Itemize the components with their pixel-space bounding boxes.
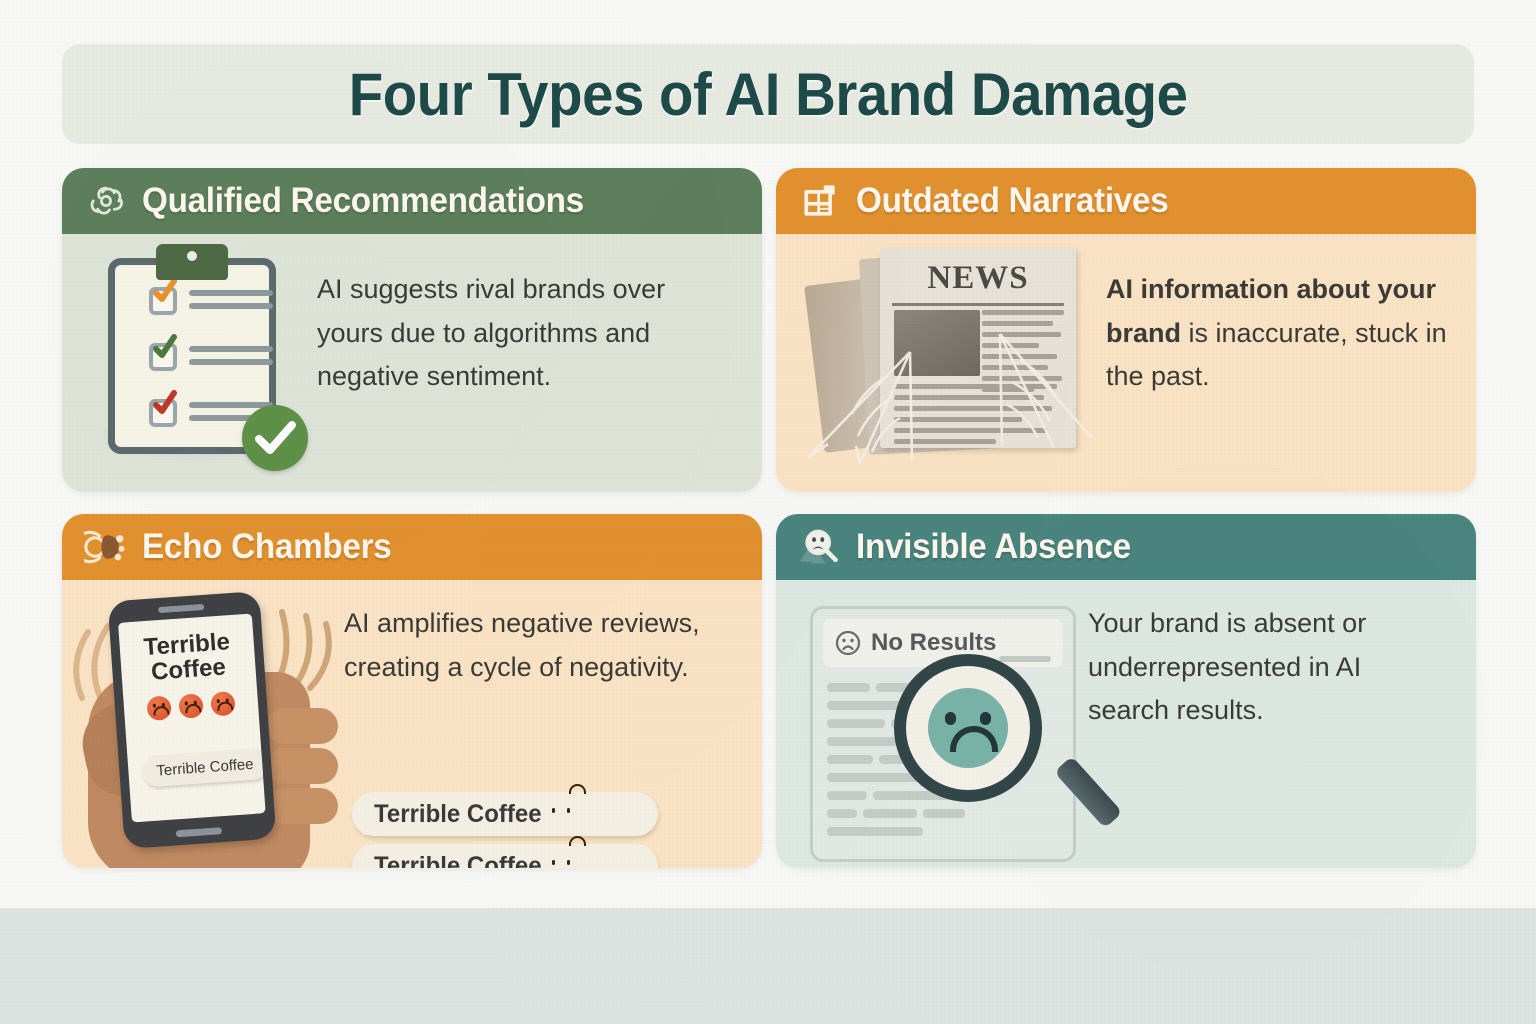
frowning-face-emoji	[561, 800, 589, 828]
cobweb-icon	[996, 332, 1106, 452]
checklist-lines	[189, 346, 273, 372]
magnifier-handle	[1054, 756, 1123, 829]
magnifying-glass	[894, 654, 1080, 850]
phone-mini-bubble: Terrible Coffee	[141, 748, 265, 788]
finger	[266, 788, 338, 824]
magnifier-sad-face-icon	[798, 525, 842, 569]
search-bar-label: No Results	[871, 629, 996, 657]
card-title-outdated-narratives: Outdated Narratives	[856, 181, 1168, 221]
newspaper-masthead: NEWS	[880, 260, 1076, 297]
phone-screen: Terrible Coffee Terrible Coffee	[118, 614, 266, 823]
review-bubble-text: Terrible Coffee	[374, 852, 542, 869]
phone-in-hand-illustration: Terrible Coffee Terrible Coffee	[84, 592, 334, 868]
check-mark-icon	[152, 278, 178, 304]
review-bubble: Terrible Coffee	[352, 792, 658, 836]
finger	[266, 708, 338, 744]
card-qualified-recommendations[interactable]: Qualified Recommendations	[62, 168, 762, 492]
card-header-invisible-absence: Invisible Absence	[776, 514, 1476, 580]
card-body-qualified-recommendations: AI suggests rival brands over yours due …	[62, 234, 762, 492]
card-description-echo-chambers: AI amplifies negative reviews, creating …	[344, 602, 744, 689]
green-check-badge	[242, 405, 308, 471]
card-outdated-narratives[interactable]: Outdated Narratives NEWS	[776, 168, 1476, 492]
cobweb-icon	[800, 348, 920, 468]
card-body-invisible-absence: No Results	[776, 580, 1476, 868]
card-invisible-absence[interactable]: Invisible Absence No Results	[776, 514, 1476, 868]
check-mark-icon	[152, 390, 178, 416]
card-body-outdated-narratives: NEWS	[776, 234, 1476, 492]
card-title-qualified-recommendations: Qualified Recommendations	[142, 181, 584, 221]
newspaper-rule	[892, 303, 1064, 306]
frowning-face-emoji	[210, 691, 236, 717]
card-echo-chambers[interactable]: Echo Chambers	[62, 514, 762, 868]
card-description-outdated-narratives: AI information about your brand is inacc…	[1106, 268, 1466, 399]
sad-face-outline-icon	[835, 630, 861, 656]
phone-home-indicator	[176, 827, 222, 837]
search-results-illustration: No Results	[798, 596, 1078, 866]
card-header-echo-chambers: Echo Chambers	[62, 514, 762, 580]
sad-face-icon	[928, 688, 1008, 768]
clipboard-illustration	[94, 244, 304, 469]
card-header-qualified-recommendations: Qualified Recommendations	[62, 168, 762, 234]
phone-speaker	[158, 604, 204, 613]
checklist-lines	[189, 290, 273, 316]
review-bubble: Terrible Coffee	[352, 844, 658, 868]
phone-device: Terrible Coffee Terrible Coffee	[108, 591, 277, 849]
phone-emoji-row	[123, 690, 258, 723]
frowning-face-emoji	[178, 694, 204, 720]
card-title-invisible-absence: Invisible Absence	[856, 527, 1131, 567]
clipboard-clamp	[156, 244, 228, 280]
check-badge-icon	[242, 405, 308, 471]
frowning-face-emoji	[146, 696, 172, 722]
finger	[266, 748, 338, 784]
infographic-page: Four Types of AI Brand Damage Qualified …	[0, 0, 1536, 1024]
newspaper-illustration: NEWS	[806, 240, 1096, 472]
phone-screen-title: Terrible Coffee	[119, 628, 256, 688]
footer-band	[0, 908, 1536, 1024]
frowning-face-emoji	[561, 852, 589, 868]
echo-ripple-icon	[84, 525, 128, 569]
card-header-outdated-narratives: Outdated Narratives	[776, 168, 1476, 234]
review-bubble-text: Terrible Coffee	[374, 800, 542, 829]
openai-flower-icon	[84, 179, 128, 223]
page-title: Four Types of AI Brand Damage	[349, 60, 1188, 129]
card-description-qualified-recommendations: AI suggests rival brands over yours due …	[317, 268, 727, 399]
card-title-echo-chambers: Echo Chambers	[142, 527, 391, 567]
card-description-invisible-absence: Your brand is absent or underrepresented…	[1088, 602, 1428, 733]
card-body-echo-chambers: Terrible Coffee Terrible Coffee Terrible…	[62, 580, 762, 868]
title-banner: Four Types of AI Brand Damage	[62, 44, 1474, 144]
magnifier-ring	[894, 654, 1042, 802]
newspaper-icon	[798, 179, 842, 223]
check-mark-icon	[152, 334, 178, 360]
